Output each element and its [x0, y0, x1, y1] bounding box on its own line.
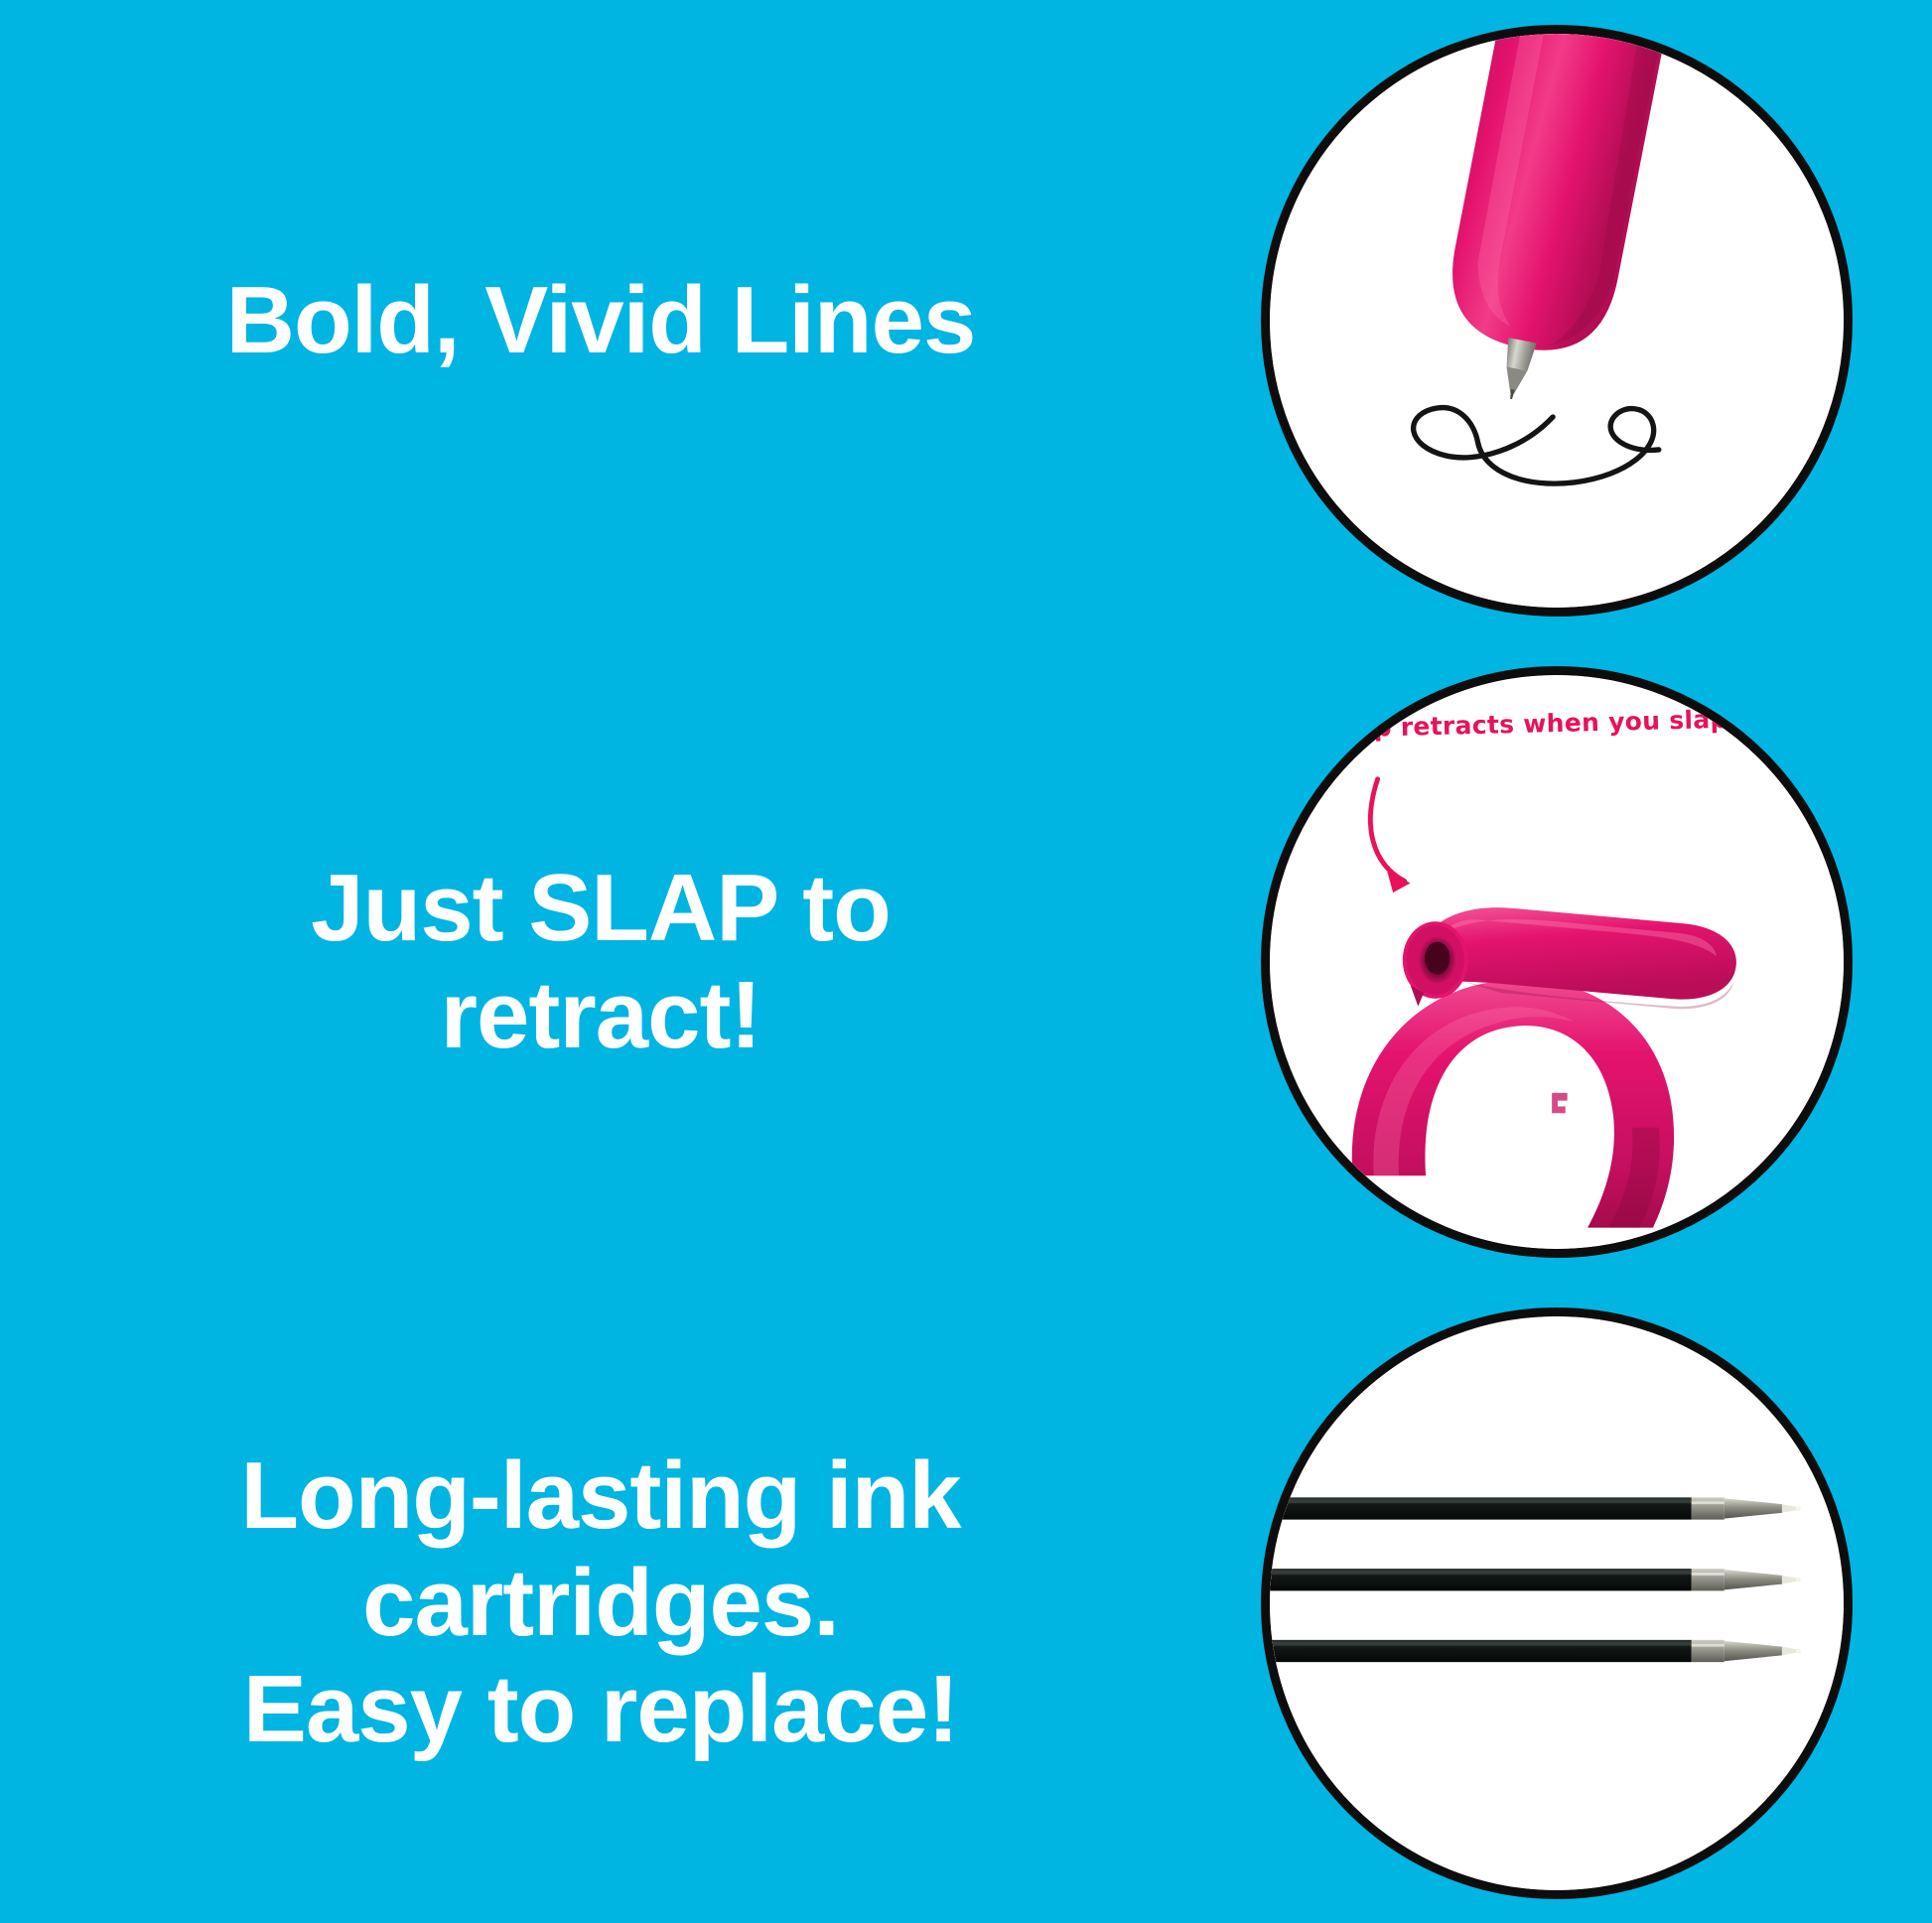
feature-row-bold-vivid-lines: Bold, Vivid Lines — [0, 0, 1932, 641]
ink-cartridge — [1270, 1569, 1801, 1590]
feature-image-column-1 — [1181, 25, 1932, 617]
ink-cartridges-illustration — [1270, 1316, 1844, 1890]
feature-row-long-lasting-ink: Long-lasting ink cartridges. Easy to rep… — [0, 1283, 1932, 1923]
feature-text-column-2: Just SLAP to retract! — [0, 855, 1181, 1068]
feature-image-column-3 — [1181, 1307, 1932, 1899]
ink-cartridge — [1270, 1639, 1801, 1661]
product-feature-poster: Bold, Vivid Lines — [0, 0, 1932, 1923]
feature-headline-3-line-1: Long-lasting ink — [240, 1442, 960, 1549]
feature-text-column-3: Long-lasting ink cartridges. Easy to rep… — [0, 1442, 1181, 1763]
slap-bracelet-pen-photo: Ink tip retracts when you slap it on! — [1261, 666, 1853, 1258]
feature-image-column-2: Ink tip retracts when you slap it on! — [1181, 666, 1932, 1258]
feature-text-column-1: Bold, Vivid Lines — [0, 267, 1181, 374]
ink-cartridge — [1270, 1497, 1801, 1519]
feature-row-slap-to-retract: Just SLAP to retract! — [0, 641, 1932, 1283]
ink-cartridges-photo — [1261, 1307, 1853, 1899]
feature-headline-2: Just SLAP to retract! — [311, 855, 891, 1068]
feature-headline-2-line-2: retract! — [441, 962, 761, 1068]
feature-headline-3-line-3: Easy to replace! — [243, 1656, 958, 1762]
pen-tip-drawing-squiggle-photo — [1261, 25, 1853, 617]
feature-headline-3: Long-lasting ink cartridges. Easy to rep… — [240, 1442, 960, 1763]
slap-bracelet-illustration — [1270, 675, 1844, 1249]
pen-tip-illustration — [1270, 34, 1844, 608]
feature-headline-2-line-1: Just SLAP to — [311, 855, 891, 961]
feature-headline-3-line-2: cartridges. — [362, 1550, 839, 1656]
feature-headline-1: Bold, Vivid Lines — [226, 267, 976, 374]
brand-logo-mark — [1543, 1085, 1574, 1124]
